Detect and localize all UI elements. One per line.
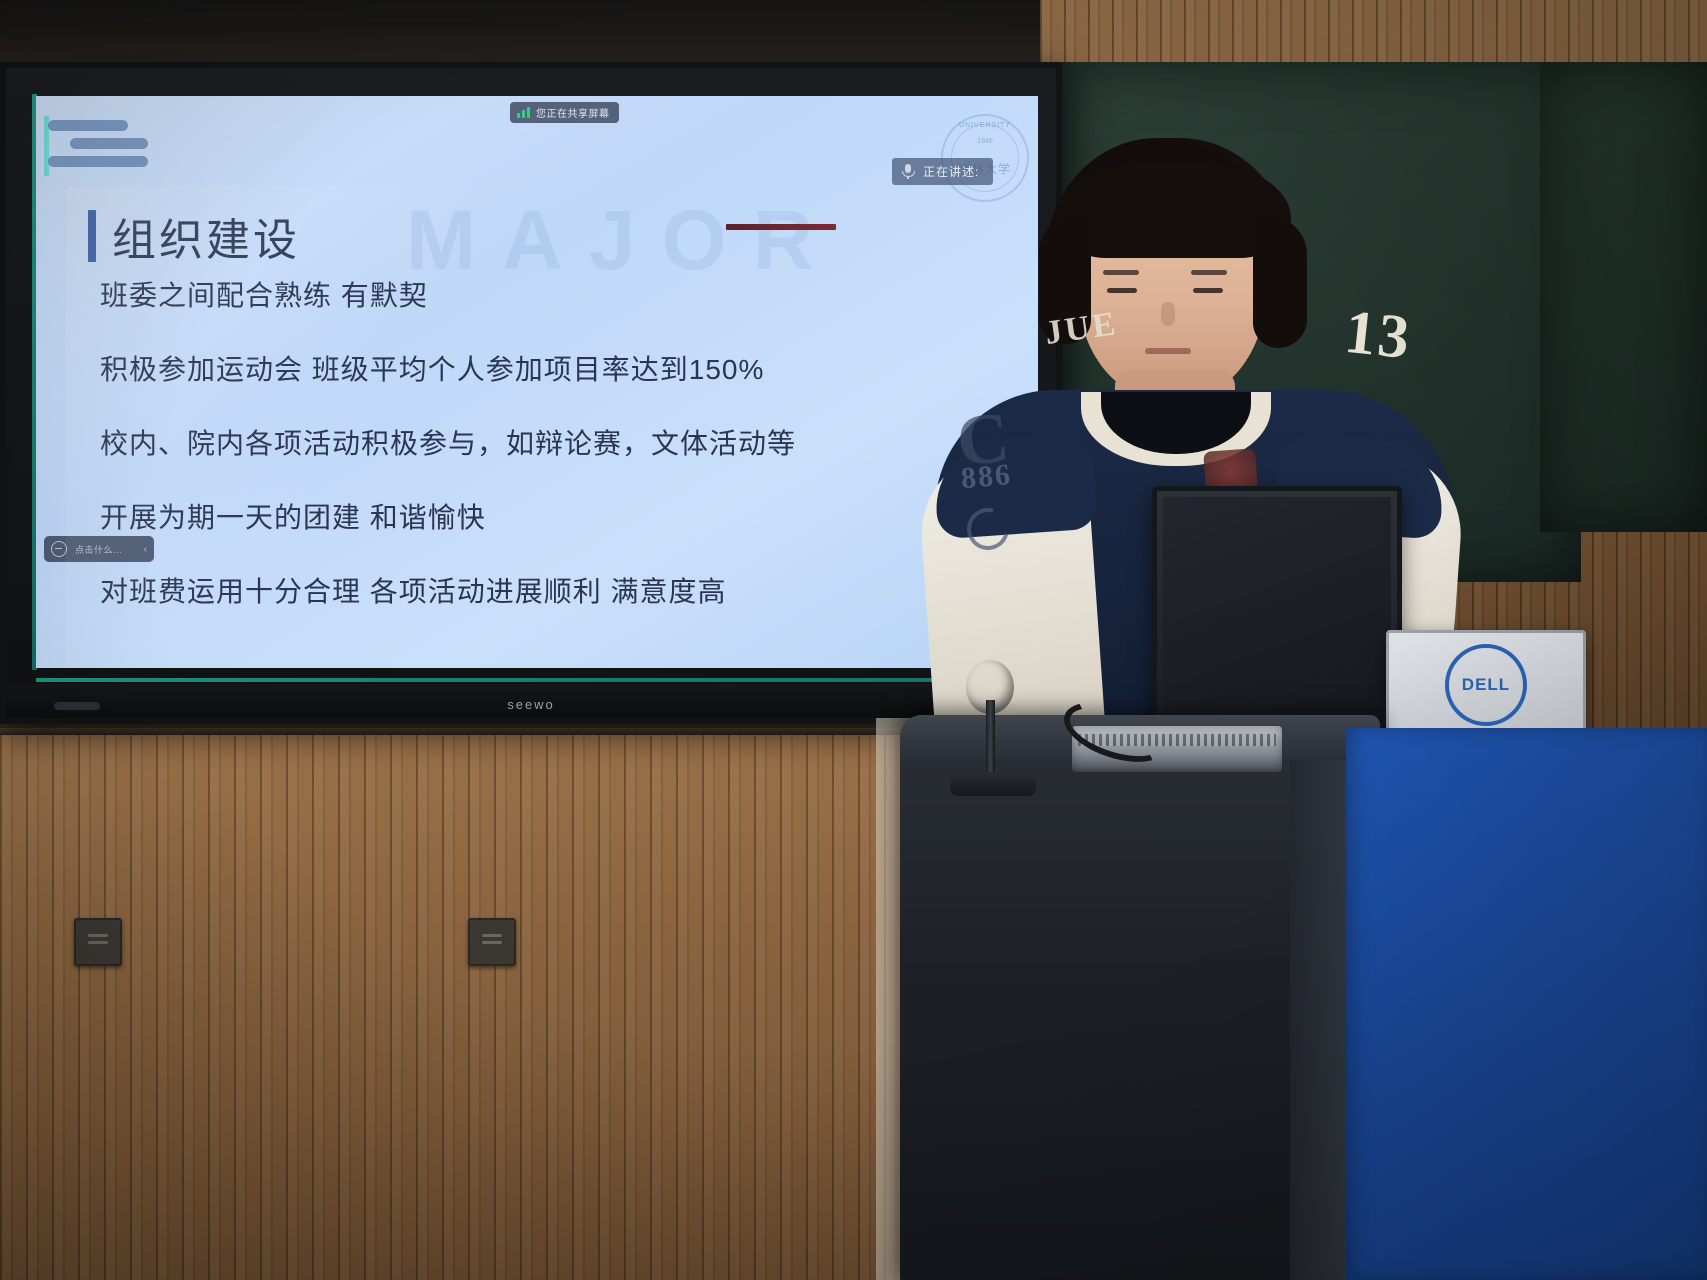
display-screen[interactable]: MAJOR UNIVERSITY 1946 吉林大学 组织建设 班委之间配合熟练… [36,96,1038,668]
title-accent-bar [88,210,96,262]
deco-bar [48,120,128,131]
slide-title-row: 组织建设 [88,204,300,268]
podium-side-panel [1290,760,1350,1280]
dell-logo-text: DELL [1462,675,1510,695]
desk-microphone-stand [986,700,995,780]
screen-share-badge[interactable]: 您正在共享屏幕 [510,102,619,123]
slide-body-line: 对班费运用十分合理 各项活动进展顺利 满意度高 [100,578,1000,606]
wall-socket [468,918,516,966]
slide-body-line: 校内、院内各项活动积极参与，如辩论赛，文体活动等 [100,430,1000,458]
title-underline-rule [726,224,836,230]
slide-title: 组织建设 [112,204,300,268]
slide-body-line: 班委之间配合熟练 有默契 [100,282,1000,310]
slide-body-line: 开展为期一天的团建 和谐愉快 [100,504,1000,532]
signal-bars-icon [517,107,530,118]
monitor-screen [1163,497,1391,733]
deco-bar [48,156,148,167]
eyebrow-right [1191,270,1227,275]
university-blue-panel: JILIN UNIVERSITY 1946 吉林大学 [1346,728,1707,1280]
floating-toolbar-label: 点击什么... [75,543,122,556]
deco-bar [70,138,148,149]
display-power-button[interactable] [54,702,100,710]
slide-watermark-major: MAJOR [406,192,839,289]
display-ir-strip [36,678,1038,682]
chevron-left-icon[interactable]: ‹ [144,544,147,555]
display-bezel-bottom: seewo [6,684,1056,718]
dell-logo: DELL [1445,644,1527,726]
eye-left [1107,288,1137,293]
minus-circle-icon [51,541,67,557]
slide-body-line: 积极参加运动会 班级平均个人参加项目率达到150% [100,356,1000,384]
lecture-hall-photo: MAJOR UNIVERSITY 1946 吉林大学 组织建设 班委之间配合熟练… [0,0,1707,1280]
chalkboard-right-section [1540,62,1707,532]
desktop-monitor[interactable] [1152,486,1402,744]
wall-socket [74,918,122,966]
slide-body-list: 班委之间配合熟练 有默契 积极参加运动会 班级平均个人参加项目率达到150% 校… [100,282,1000,652]
display-brand-label: seewo [507,697,555,712]
eye-right [1193,288,1223,293]
floating-toolbar-pill[interactable]: 点击什么... ‹ [44,536,154,562]
nose [1161,302,1175,326]
eyebrow-left [1103,270,1139,275]
jacket-number-patch: 13 [1341,297,1414,375]
jacket-digits-patch: 886 [960,458,1014,496]
slide-decoration-bars [48,120,188,170]
hair-side-right [1253,216,1307,348]
mouth [1145,348,1191,354]
desk-microphone-base [950,772,1036,796]
screen-share-label: 您正在共享屏幕 [536,105,610,120]
interactive-display[interactable]: MAJOR UNIVERSITY 1946 吉林大学 组织建设 班委之间配合熟练… [0,62,1062,724]
